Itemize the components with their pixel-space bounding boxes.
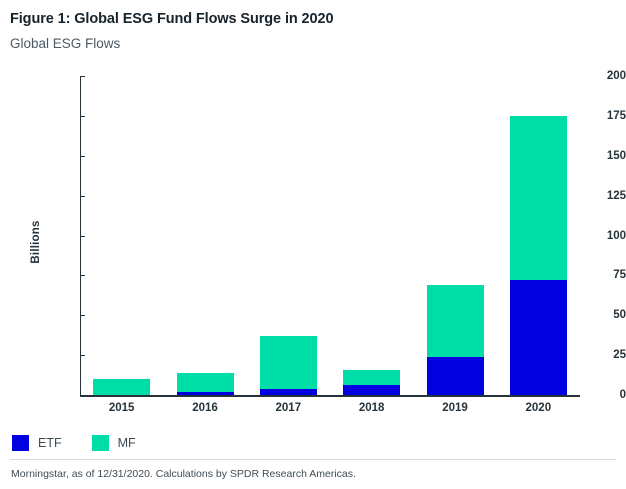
bar-segment-etf-2020[interactable] xyxy=(510,280,567,395)
bar-segment-etf-2018[interactable] xyxy=(343,385,400,395)
x-axis-tick-label-2015: 2015 xyxy=(80,402,163,414)
bars-layer xyxy=(80,76,580,395)
footer-divider xyxy=(10,459,616,460)
legend-label-etf: ETF xyxy=(38,436,62,450)
x-axis-tick-label-2016: 2016 xyxy=(163,402,246,414)
source-note: Morningstar, as of 12/31/2020. Calculati… xyxy=(11,468,356,480)
bar-group-2018[interactable] xyxy=(343,76,400,395)
legend-swatch-mf xyxy=(92,435,109,451)
bar-segment-etf-2017[interactable] xyxy=(260,389,317,395)
x-axis-tick-label-2017: 2017 xyxy=(247,402,330,414)
bar-segment-mf-2016[interactable] xyxy=(177,373,234,392)
x-axis-tick-label-2019: 2019 xyxy=(413,402,496,414)
x-axis-line xyxy=(80,395,580,397)
x-axis-tick-label-2020: 2020 xyxy=(497,402,580,414)
legend-swatch-etf xyxy=(12,435,29,451)
bar-segment-etf-2016[interactable] xyxy=(177,392,234,395)
bar-group-2020[interactable] xyxy=(510,76,567,395)
legend-label-mf: MF xyxy=(118,436,136,450)
bar-group-2019[interactable] xyxy=(427,76,484,395)
x-axis-tick-label-2018: 2018 xyxy=(330,402,413,414)
bar-group-2017[interactable] xyxy=(260,76,317,395)
legend-item-mf[interactable]: MF xyxy=(92,435,136,451)
bar-segment-mf-2015[interactable] xyxy=(93,379,150,395)
bar-segment-etf-2019[interactable] xyxy=(427,357,484,395)
bar-segment-mf-2018[interactable] xyxy=(343,370,400,386)
bar-segment-mf-2020[interactable] xyxy=(510,116,567,280)
bar-group-2016[interactable] xyxy=(177,76,234,395)
legend-item-etf[interactable]: ETF xyxy=(12,435,62,451)
bar-group-2015[interactable] xyxy=(93,76,150,395)
bar-segment-mf-2019[interactable] xyxy=(427,285,484,357)
chart-plot-area: Billions 0255075100125150175200 20152016… xyxy=(0,0,626,420)
bar-segment-mf-2017[interactable] xyxy=(260,336,317,389)
y-axis-tick xyxy=(80,395,85,396)
y-axis-title: Billions xyxy=(30,202,42,282)
chart-legend: ETF MF xyxy=(12,435,136,451)
